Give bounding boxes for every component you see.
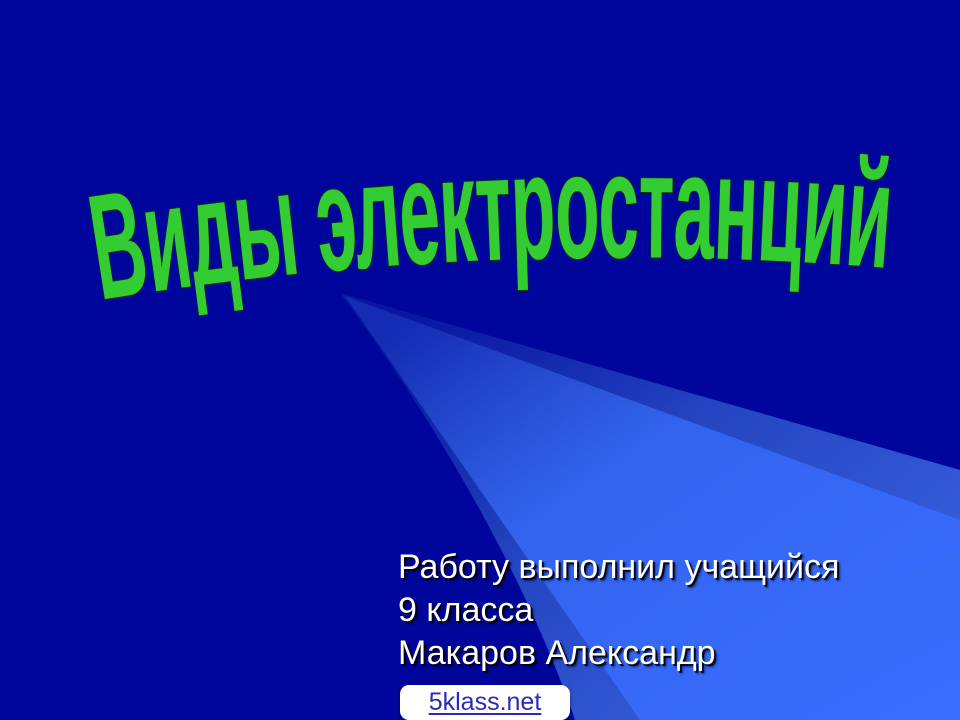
- subtitle-line-1: Работу выполнил учащийся: [398, 546, 938, 589]
- watermark-badge[interactable]: 5klass.net: [400, 685, 570, 720]
- subtitle-line-2: 9 класса: [398, 589, 938, 632]
- subtitle-line-3: Макаров Александр: [398, 632, 938, 675]
- title-slide: Виды электростанций Работу выполнил учащ…: [0, 0, 960, 720]
- watermark-label[interactable]: 5klass.net: [400, 685, 570, 720]
- subtitle-block: Работу выполнил учащийся 9 класса Макаро…: [398, 546, 938, 675]
